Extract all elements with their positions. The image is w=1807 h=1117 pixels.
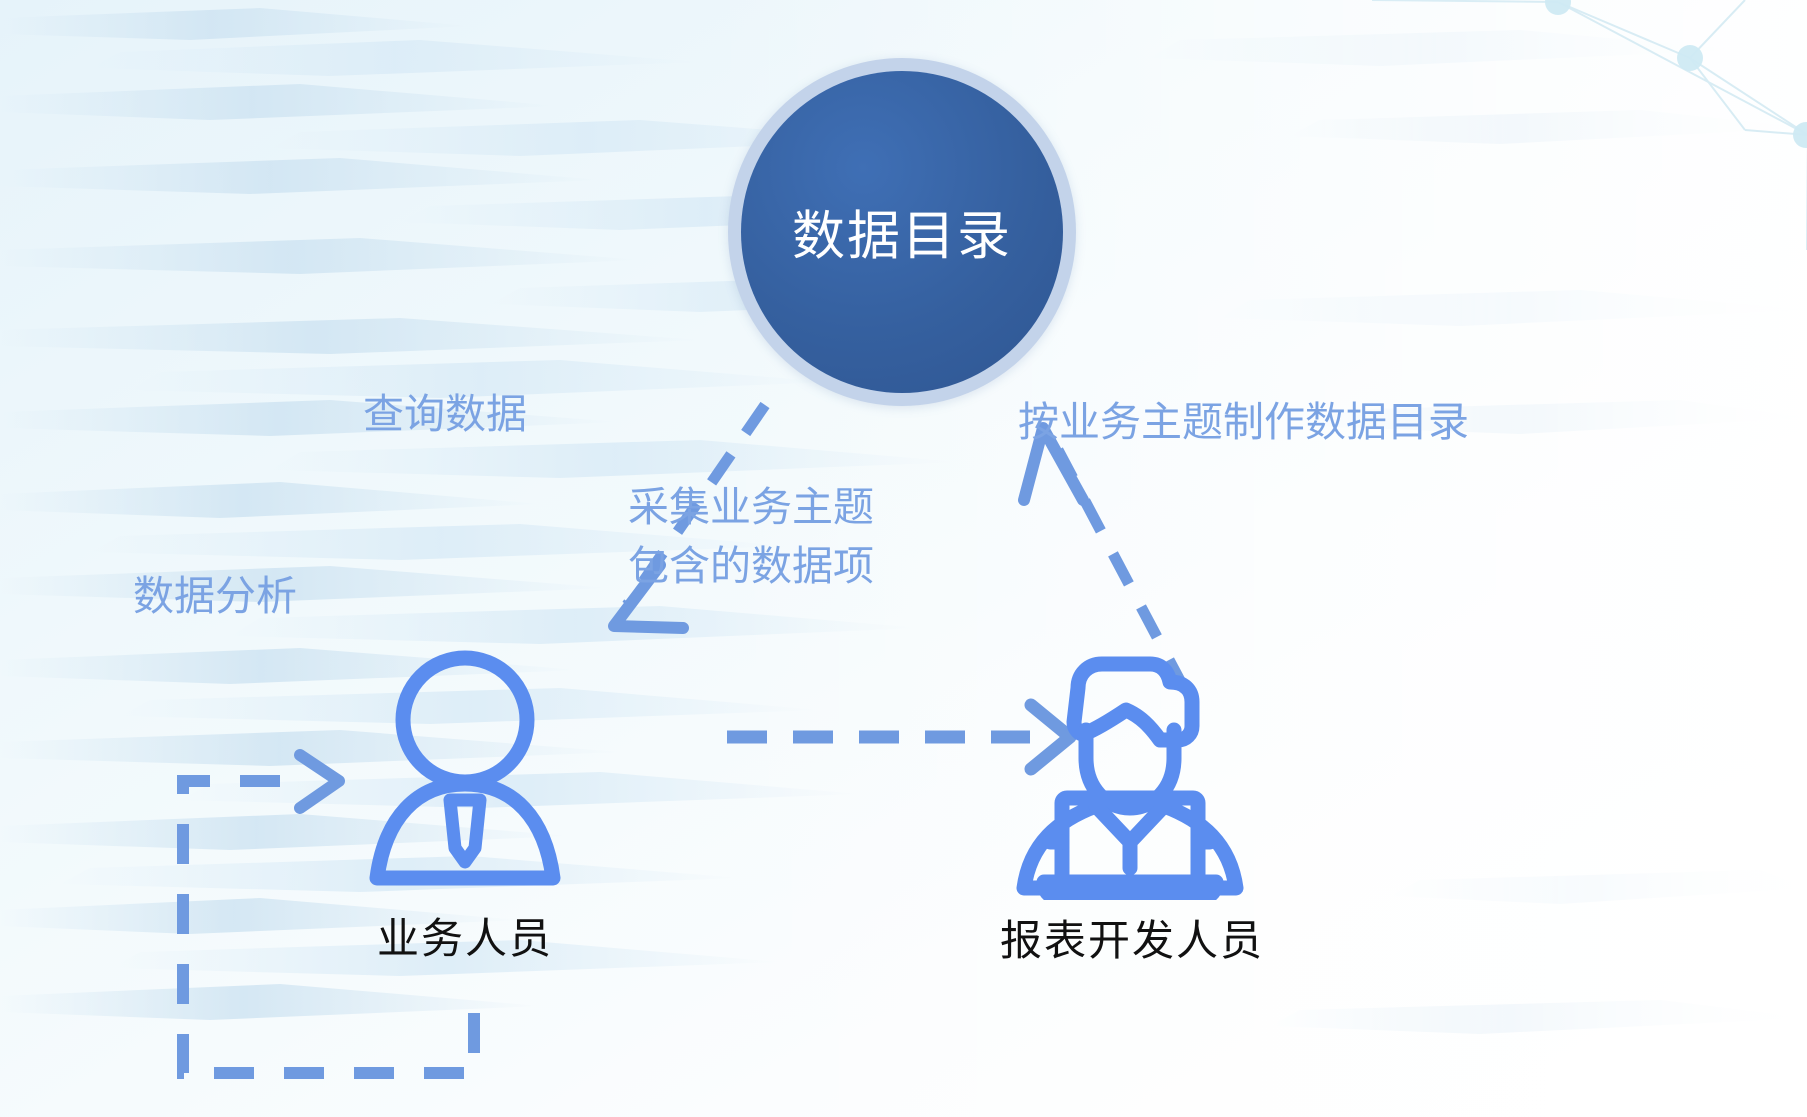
edge-label-data-analysis: 数据分析 <box>133 567 297 626</box>
actor-report-developer-caption: 报表开发人员 <box>1000 907 1260 968</box>
edge-label-collect-data-items: 采集业务主题 包含的数据项 <box>628 478 874 597</box>
actor-business-user-caption: 业务人员 <box>345 905 585 966</box>
data-catalog-label: 数据目录 <box>741 71 1063 393</box>
edge-label-query-data: 查询数据 <box>363 385 527 444</box>
business-person-icon <box>345 648 585 898</box>
edge-label-build-catalog: 按业务主题制作数据目录 <box>1018 393 1469 452</box>
necktie-icon <box>450 800 480 862</box>
diagram-canvas: 数据目录 查询数据 数据分析 采集业务主题 包含的数据项 按业务主题制作数据目录… <box>0 0 1807 1117</box>
developer-with-laptop-icon <box>1000 630 1260 900</box>
edge-label-collect-line-1: 采集业务主题 <box>628 478 874 537</box>
actor-business-user[interactable]: 业务人员 <box>345 648 585 966</box>
data-catalog-disc: 数据目录 <box>741 71 1063 393</box>
edge-label-collect-line-2: 包含的数据项 <box>628 537 874 596</box>
actor-report-developer[interactable]: 报表开发人员 <box>1000 630 1260 968</box>
data-catalog-node[interactable]: 数据目录 <box>728 58 1076 406</box>
